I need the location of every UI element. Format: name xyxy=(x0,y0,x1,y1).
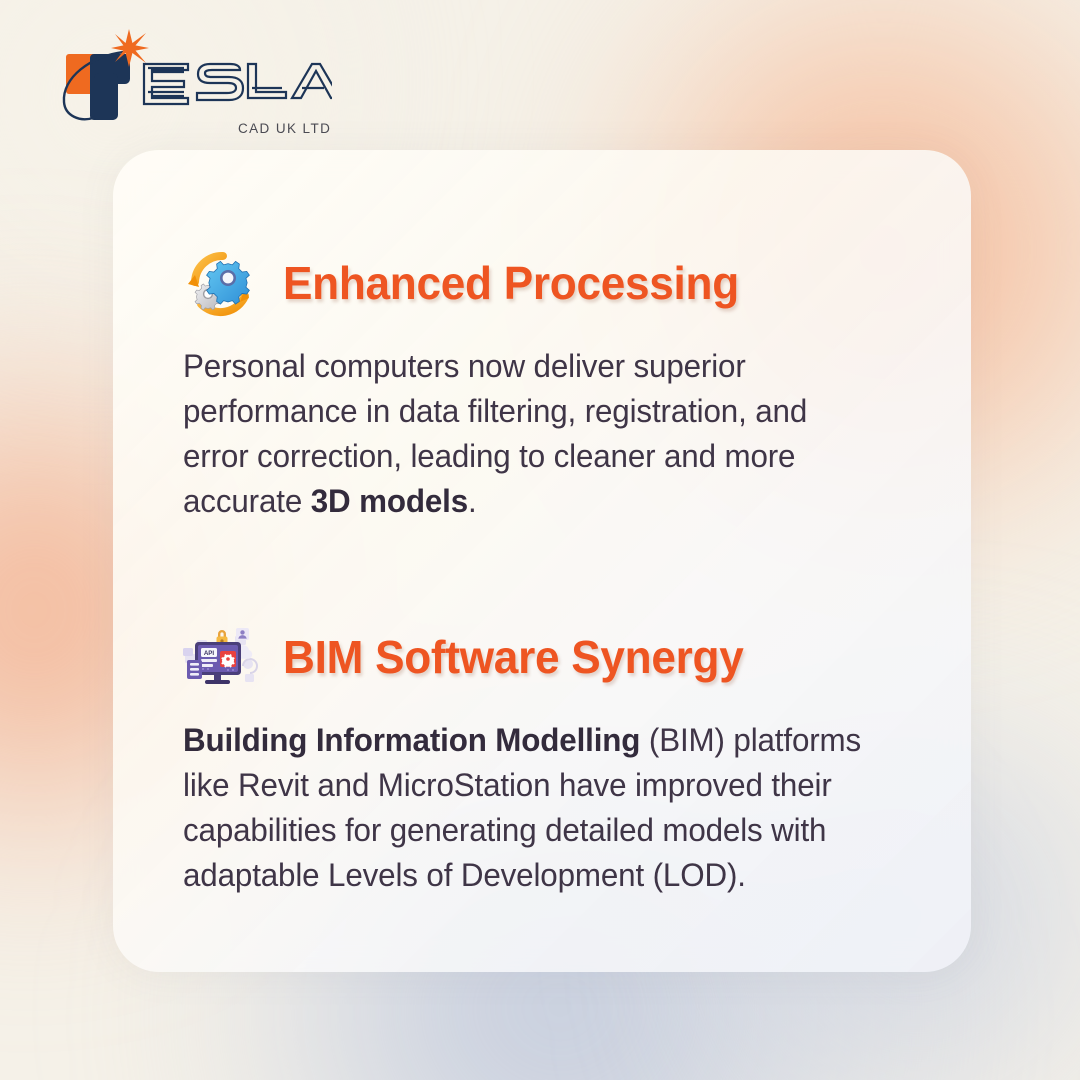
section-body: Building Information Modelling (BIM) pla… xyxy=(183,718,873,898)
body-text-bold: Building Information Modelling xyxy=(183,722,640,758)
body-text-part: . xyxy=(468,483,477,519)
content-card: Enhanced Processing Personal computers n… xyxy=(113,150,971,972)
brand-logo[interactable]: CAD UK LTD xyxy=(52,26,332,141)
api-monitor-settings-icon: API xyxy=(183,622,261,692)
gears-refresh-icon xyxy=(183,248,261,318)
logo-tagline: CAD UK LTD xyxy=(238,121,331,136)
section-bim-software-synergy: API xyxy=(183,622,899,898)
icon-screen-label: API xyxy=(204,650,215,657)
section-enhanced-processing: Enhanced Processing Personal computers n… xyxy=(183,248,899,524)
body-text-bold: 3D models xyxy=(311,483,468,519)
poster-canvas: CAD UK LTD xyxy=(0,0,1080,1080)
body-text-part: Personal computers now deliver superior … xyxy=(183,348,807,519)
section-header: Enhanced Processing xyxy=(183,248,899,318)
section-header: API xyxy=(183,622,899,692)
section-body: Personal computers now deliver superior … xyxy=(183,344,873,524)
card-content: Enhanced Processing Personal computers n… xyxy=(113,150,971,898)
section-title: Enhanced Processing xyxy=(283,256,739,310)
section-title: BIM Software Synergy xyxy=(283,630,744,684)
